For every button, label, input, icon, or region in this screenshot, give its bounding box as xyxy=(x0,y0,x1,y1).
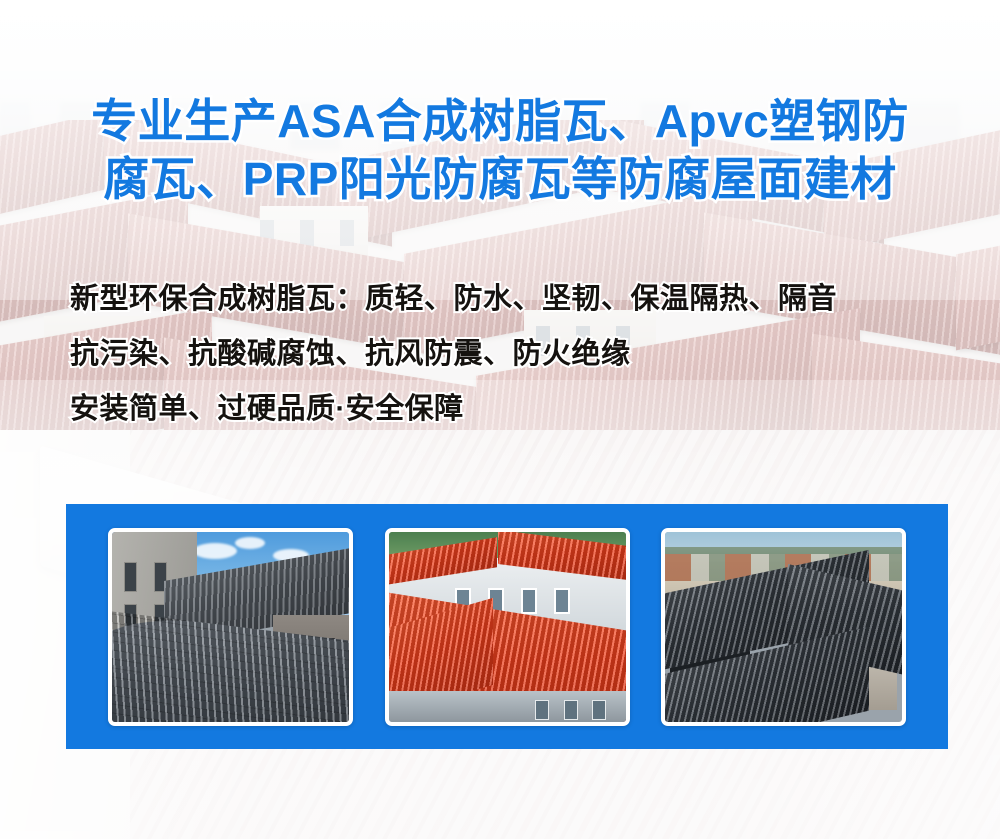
subtitle-block: 新型环保合成树脂瓦：质轻、防水、坚韧、保温隔热、隔音 抗污染、抗酸碱腐蚀、抗风防… xyxy=(70,272,970,437)
subtitle-line-2: 抗污染、抗酸碱腐蚀、抗风防震、防火绝缘 xyxy=(70,327,970,382)
photo-gallery-panel xyxy=(66,504,948,749)
subtitle-line-3: 安装简单、过硬品质·安全保障 xyxy=(70,382,970,437)
headline-line-1: 专业生产ASA合成树脂瓦、Apvc塑钢防 xyxy=(0,92,1000,150)
headline-line-2: 腐瓦、PRP阳光防腐瓦等防腐屋面建材 xyxy=(0,150,1000,208)
photo2-lower-facade xyxy=(389,691,626,721)
red-resin-tile-roof-photo[interactable] xyxy=(385,528,630,726)
grey-resin-tile-roof-photo[interactable] xyxy=(108,528,353,726)
dark-resin-tile-roof-photo[interactable] xyxy=(661,528,906,726)
page-title: 专业生产ASA合成树脂瓦、Apvc塑钢防 腐瓦、PRP阳光防腐瓦等防腐屋面建材 xyxy=(0,92,1000,208)
subtitle-line-1: 新型环保合成树脂瓦：质轻、防水、坚韧、保温隔热、隔音 xyxy=(70,272,970,327)
